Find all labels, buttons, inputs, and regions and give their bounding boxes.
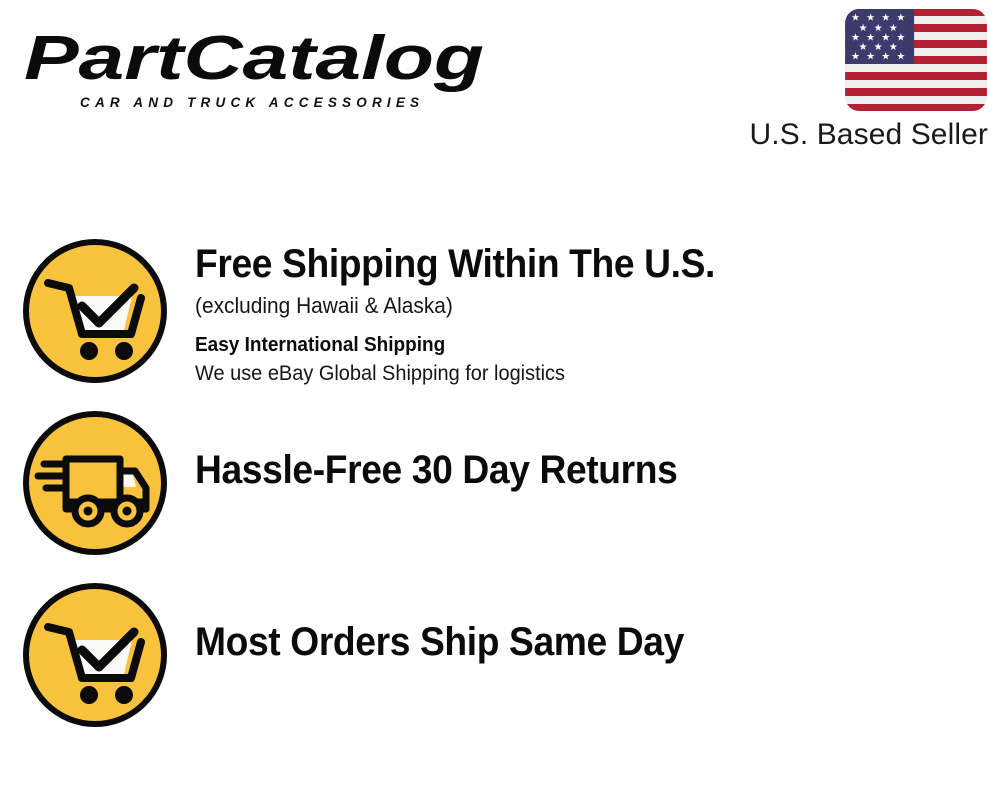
feature-row: Free Shipping Within The U.S. (excluding… xyxy=(0,236,1000,387)
banner-header: PartCatalog CAR AND TRUCK ACCESSORIES xyxy=(0,0,1000,170)
us-flag-icon xyxy=(844,8,988,112)
feature-headline: Free Shipping Within The U.S. xyxy=(195,244,944,285)
us-based-seller-badge: U.S. Based Seller xyxy=(708,8,988,151)
us-based-seller-label: U.S. Based Seller xyxy=(708,119,988,151)
feature-text-container: Hassle-Free 30 Day Returns xyxy=(190,408,1000,491)
feature-text-container: Free Shipping Within The U.S. (excluding… xyxy=(190,236,1000,387)
feature-icon-container xyxy=(0,408,190,558)
feature-text-container: Most Orders Ship Same Day xyxy=(190,580,1000,663)
brand-logo: PartCatalog CAR AND TRUCK ACCESSORIES xyxy=(24,22,494,110)
feature-sub-title: Easy International Shipping xyxy=(195,334,960,357)
partcatalog-wordmark-icon: PartCatalog xyxy=(24,22,486,94)
feature-headline: Most Orders Ship Same Day xyxy=(195,622,944,663)
feature-icon-container xyxy=(0,236,190,386)
shopping-cart-check-icon xyxy=(20,236,170,386)
shopping-cart-check-icon xyxy=(20,580,170,730)
partcatalog-wordmark-text: PartCatalog xyxy=(24,24,484,93)
feature-row: Hassle-Free 30 Day Returns xyxy=(0,408,1000,558)
brand-tagline: CAR AND TRUCK ACCESSORIES xyxy=(80,95,494,110)
feature-note: (excluding Hawaii & Alaska) xyxy=(195,293,960,318)
feature-headline: Hassle-Free 30 Day Returns xyxy=(195,450,944,491)
delivery-truck-icon xyxy=(20,408,170,558)
feature-sub-text: We use eBay Global Shipping for logistic… xyxy=(195,362,960,387)
feature-row: Most Orders Ship Same Day xyxy=(0,580,1000,730)
feature-icon-container xyxy=(0,580,190,730)
shipping-info-banner: PartCatalog CAR AND TRUCK ACCESSORIES xyxy=(0,0,1000,800)
